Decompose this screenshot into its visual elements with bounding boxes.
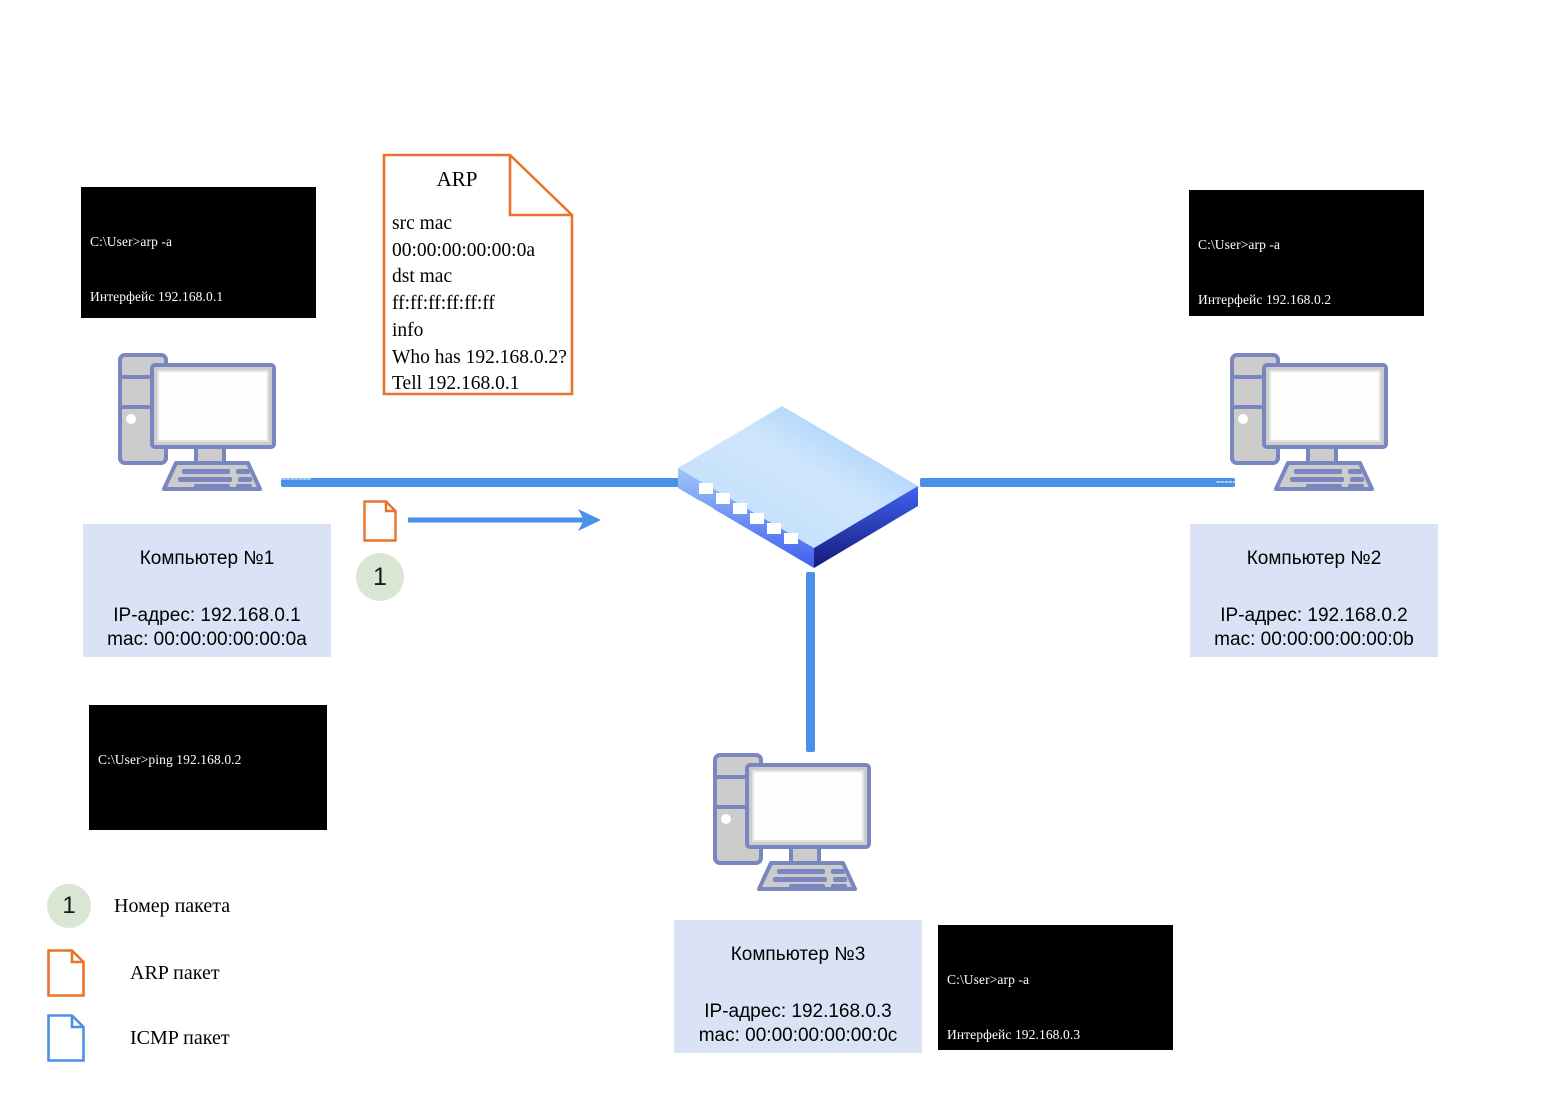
info-box-pc3: Компьютер №3 IP-адрес: 192.168.0.3 mac: … xyxy=(674,920,922,1053)
packet-number-badge: 1 xyxy=(356,553,404,601)
legend-icmp-label: ICMP пакет xyxy=(130,1027,230,1050)
network-switch-icon[interactable] xyxy=(672,400,924,572)
computer-icon-pc2[interactable] xyxy=(1220,345,1402,495)
link-switch-to-pc2 xyxy=(920,478,1235,487)
terminal-pc3-arp: C:\User>arp -a Интерфейс 192.168.0.3 ---… xyxy=(938,925,1173,1050)
terminal-separator: ----------------------------------------… xyxy=(947,1080,1164,1098)
arp-packet-icon-on-wire xyxy=(363,500,397,542)
terminal-line: C:\User>arp -a xyxy=(947,971,1164,989)
terminal-line: C:\User>ping 192.168.0.2 xyxy=(98,751,318,769)
legend-icmp-icon xyxy=(47,1014,85,1062)
pc2-details: IP-адрес: 192.168.0.2 mac: 00:00:00:00:0… xyxy=(1190,604,1438,653)
packet-direction-arrow xyxy=(408,505,603,535)
legend-arp-icon xyxy=(47,949,85,997)
pc1-details: IP-адрес: 192.168.0.1 mac: 00:00:00:00:0… xyxy=(83,604,331,653)
arp-note-body: src mac 00:00:00:00:00:0a dst mac ff:ff:… xyxy=(392,211,567,398)
info-box-pc2: Компьютер №2 IP-адрес: 192.168.0.2 mac: … xyxy=(1190,524,1438,657)
network-diagram-canvas: C:\User>arp -a Интерфейс 192.168.0.1 ---… xyxy=(0,0,1560,1101)
document-icon xyxy=(47,1014,85,1062)
pc3-ip: IP-адрес: 192.168.0.3 xyxy=(704,1001,892,1022)
pc1-ip: IP-адрес: 192.168.0.1 xyxy=(113,605,301,626)
pc2-title: Компьютер №2 xyxy=(1190,548,1438,570)
arp-note-title: ARP xyxy=(382,167,532,192)
computer-icon-pc3[interactable] xyxy=(703,745,885,895)
terminal-line: Интерфейс 192.168.0.2 xyxy=(1198,291,1415,309)
terminal-pc1-ping: C:\User>ping 192.168.0.2 xyxy=(89,705,327,830)
computer-icon-pc1[interactable] xyxy=(108,345,290,495)
arrow-right-icon xyxy=(408,505,603,535)
document-icon xyxy=(363,500,397,542)
link-pc1-to-switch xyxy=(281,478,681,487)
link-switch-to-pc3 xyxy=(806,572,815,752)
pc2-mac: mac: 00:00:00:00:00:0b xyxy=(1214,629,1414,650)
info-box-pc1: Компьютер №1 IP-адрес: 192.168.0.1 mac: … xyxy=(83,524,331,657)
pc2-ip: IP-адрес: 192.168.0.2 xyxy=(1220,605,1408,626)
terminal-pc2-arp: C:\User>arp -a Интерфейс 192.168.0.2 ---… xyxy=(1189,190,1424,316)
pc1-mac: mac: 00:00:00:00:00:0a xyxy=(107,629,307,650)
terminal-pc1-arp: C:\User>arp -a Интерфейс 192.168.0.1 ---… xyxy=(81,187,316,318)
desktop-computer-icon xyxy=(1220,345,1402,495)
pc3-details: IP-адрес: 192.168.0.3 mac: 00:00:00:00:0… xyxy=(674,1000,922,1049)
desktop-computer-icon xyxy=(108,345,290,495)
desktop-computer-icon xyxy=(703,745,885,895)
legend-number-badge: 1 xyxy=(47,884,91,928)
terminal-line: C:\User>arp -a xyxy=(90,233,307,251)
terminal-line: C:\User>arp -a xyxy=(1198,236,1415,254)
pc3-title: Компьютер №3 xyxy=(674,944,922,966)
legend-number-label: Номер пакета xyxy=(114,895,230,918)
legend-arp-label: ARP пакет xyxy=(130,962,220,985)
document-icon xyxy=(47,949,85,997)
packet-number-label: 1 xyxy=(373,563,387,592)
pc1-title: Компьютер №1 xyxy=(83,548,331,570)
legend-number-value: 1 xyxy=(62,892,75,920)
terminal-line: Интерфейс 192.168.0.1 xyxy=(90,288,307,306)
switch-shape-icon xyxy=(672,400,924,572)
terminal-line: Интерфейс 192.168.0.3 xyxy=(947,1026,1164,1044)
arp-packet-note: ARP src mac 00:00:00:00:00:0a dst mac ff… xyxy=(382,153,574,396)
pc3-mac: mac: 00:00:00:00:00:0c xyxy=(699,1025,898,1046)
